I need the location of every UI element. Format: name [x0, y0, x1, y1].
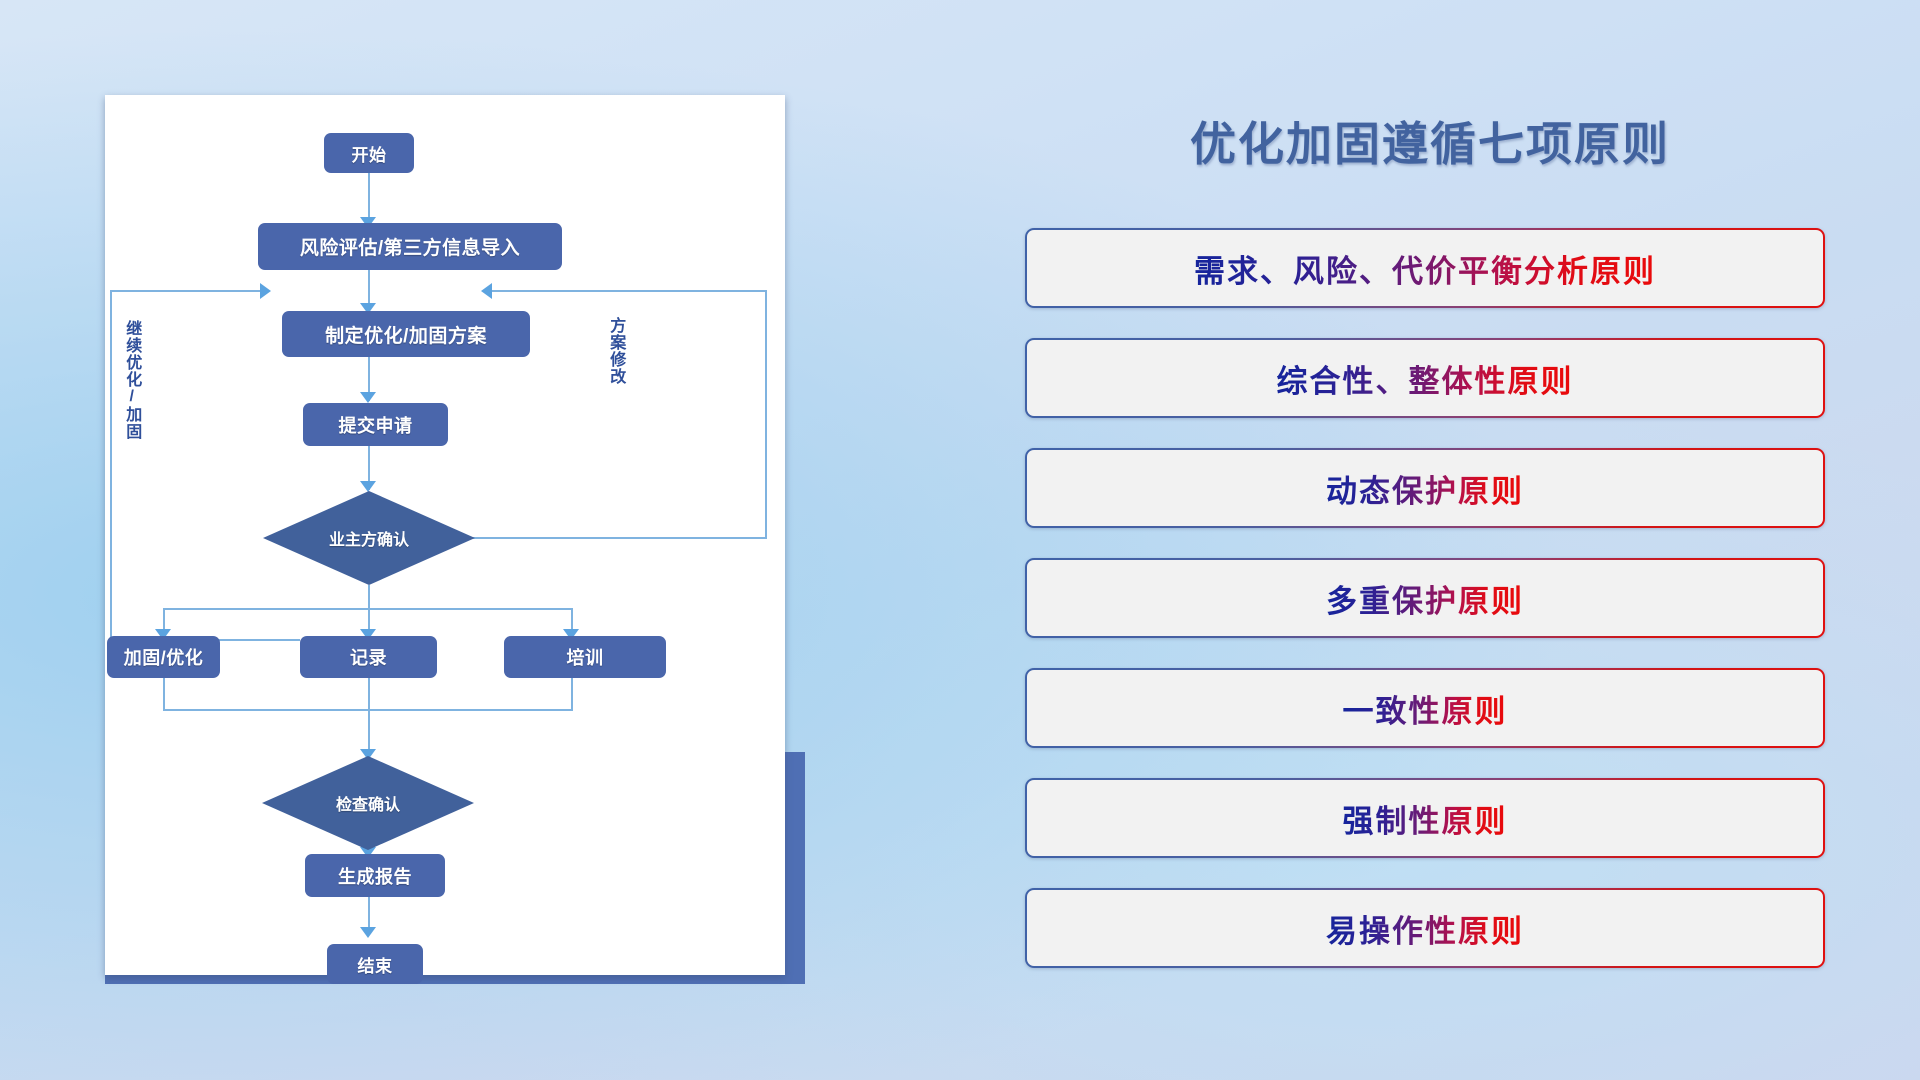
- principle-item-5[interactable]: 一致性原则: [1025, 668, 1825, 748]
- edge-label-left-loop: 继续优化/加固: [123, 320, 140, 445]
- flow-node-start-label: 开始: [352, 141, 387, 166]
- flow-node-submit[interactable]: 提交申请: [303, 403, 448, 446]
- connector-rightloop-vertical: [765, 290, 767, 539]
- connector-reinforce-down: [163, 678, 165, 711]
- flow-node-end[interactable]: 结束: [327, 944, 423, 984]
- flow-node-start[interactable]: 开始: [324, 133, 414, 173]
- principle-list: 需求、风险、代价平衡分析原则 综合性、整体性原则 动态保护原则 多重保护原则 一…: [1025, 228, 1825, 998]
- flow-node-owner-confirm[interactable]: 业主方确认: [263, 491, 475, 585]
- principle-item-4[interactable]: 多重保护原则: [1025, 558, 1825, 638]
- principle-item-7[interactable]: 易操作性原则: [1025, 888, 1825, 968]
- principle-item-3-inner: 动态保护原则: [1027, 450, 1823, 526]
- flow-node-make-plan[interactable]: 制定优化/加固方案: [282, 311, 530, 357]
- flow-node-check-confirm-label: 检查确认: [336, 791, 400, 815]
- principle-item-6-inner: 强制性原则: [1027, 780, 1823, 856]
- flowchart-card: 开始 风险评估/第三方信息导入 制定优化/加固方案 提交申请 业主方确认 加固/…: [105, 95, 785, 975]
- page-title: 优化加固遵循七项原则: [1020, 108, 1840, 174]
- flowchart-panel: 开始 风险评估/第三方信息导入 制定优化/加固方案 提交申请 业主方确认 加固/…: [0, 0, 860, 1080]
- flow-node-training[interactable]: 培训: [504, 636, 666, 678]
- principle-item-3-label: 动态保护原则: [1326, 466, 1524, 511]
- flow-node-gen-report-label: 生成报告: [338, 863, 412, 889]
- principle-item-7-label: 易操作性原则: [1326, 906, 1524, 951]
- flow-node-training-label: 培训: [567, 644, 604, 670]
- flow-node-submit-label: 提交申请: [339, 412, 413, 438]
- connector-start-to-risk: [368, 173, 370, 223]
- principles-panel: 优化加固遵循七项原则 需求、风险、代价平衡分析原则 综合性、整体性原则 动态保护…: [1020, 0, 1920, 1080]
- flow-node-make-plan-label: 制定优化/加固方案: [325, 321, 487, 348]
- connector-rightloop-bottom: [442, 537, 767, 539]
- connector-record-down: [368, 678, 370, 711]
- principle-item-2-inner: 综合性、整体性原则: [1027, 340, 1823, 416]
- arrowhead-leftloop-to-plan: [260, 283, 271, 299]
- connector-leftloop-vertical: [110, 290, 112, 641]
- arrowhead-rightloop-to-plan: [481, 283, 492, 299]
- principle-item-5-label: 一致性原则: [1343, 686, 1508, 731]
- flow-node-check-confirm[interactable]: 检查确认: [262, 756, 474, 850]
- principle-item-6[interactable]: 强制性原则: [1025, 778, 1825, 858]
- arrowhead-submit-to-confirm: [360, 481, 376, 492]
- principle-item-2[interactable]: 综合性、整体性原则: [1025, 338, 1825, 418]
- flow-node-end-label: 结束: [358, 952, 393, 977]
- flow-node-record-label: 记录: [350, 644, 387, 670]
- flow-node-gen-report[interactable]: 生成报告: [305, 854, 445, 897]
- principle-item-4-label: 多重保护原则: [1326, 576, 1524, 621]
- flow-node-reinforce-label: 加固/优化: [124, 644, 204, 670]
- flow-node-risk-assess-label: 风险评估/第三方信息导入: [300, 233, 520, 260]
- principle-item-4-inner: 多重保护原则: [1027, 560, 1823, 636]
- flow-node-owner-confirm-label: 业主方确认: [329, 526, 409, 550]
- connector-training-down: [571, 678, 573, 711]
- flow-node-risk-assess[interactable]: 风险评估/第三方信息导入: [258, 223, 562, 270]
- principle-item-2-label: 综合性、整体性原则: [1277, 356, 1574, 401]
- connector-rightloop-top: [490, 290, 767, 292]
- principle-item-1-label: 需求、风险、代价平衡分析原则: [1194, 246, 1656, 291]
- principle-item-7-inner: 易操作性原则: [1027, 890, 1823, 966]
- arrowhead-report-to-end: [360, 927, 376, 938]
- edge-label-right-loop: 方案修改: [607, 317, 624, 412]
- principle-item-1[interactable]: 需求、风险、代价平衡分析原则: [1025, 228, 1825, 308]
- arrowhead-plan-to-submit: [360, 392, 376, 403]
- principle-item-3[interactable]: 动态保护原则: [1025, 448, 1825, 528]
- connector-confirm-down: [368, 585, 370, 610]
- principle-item-5-inner: 一致性原则: [1027, 670, 1823, 746]
- flow-node-record[interactable]: 记录: [300, 636, 437, 678]
- principle-item-1-inner: 需求、风险、代价平衡分析原则: [1027, 230, 1823, 306]
- principle-item-6-label: 强制性原则: [1343, 796, 1508, 841]
- connector-leftloop-top: [110, 290, 262, 292]
- flow-node-reinforce[interactable]: 加固/优化: [107, 636, 220, 678]
